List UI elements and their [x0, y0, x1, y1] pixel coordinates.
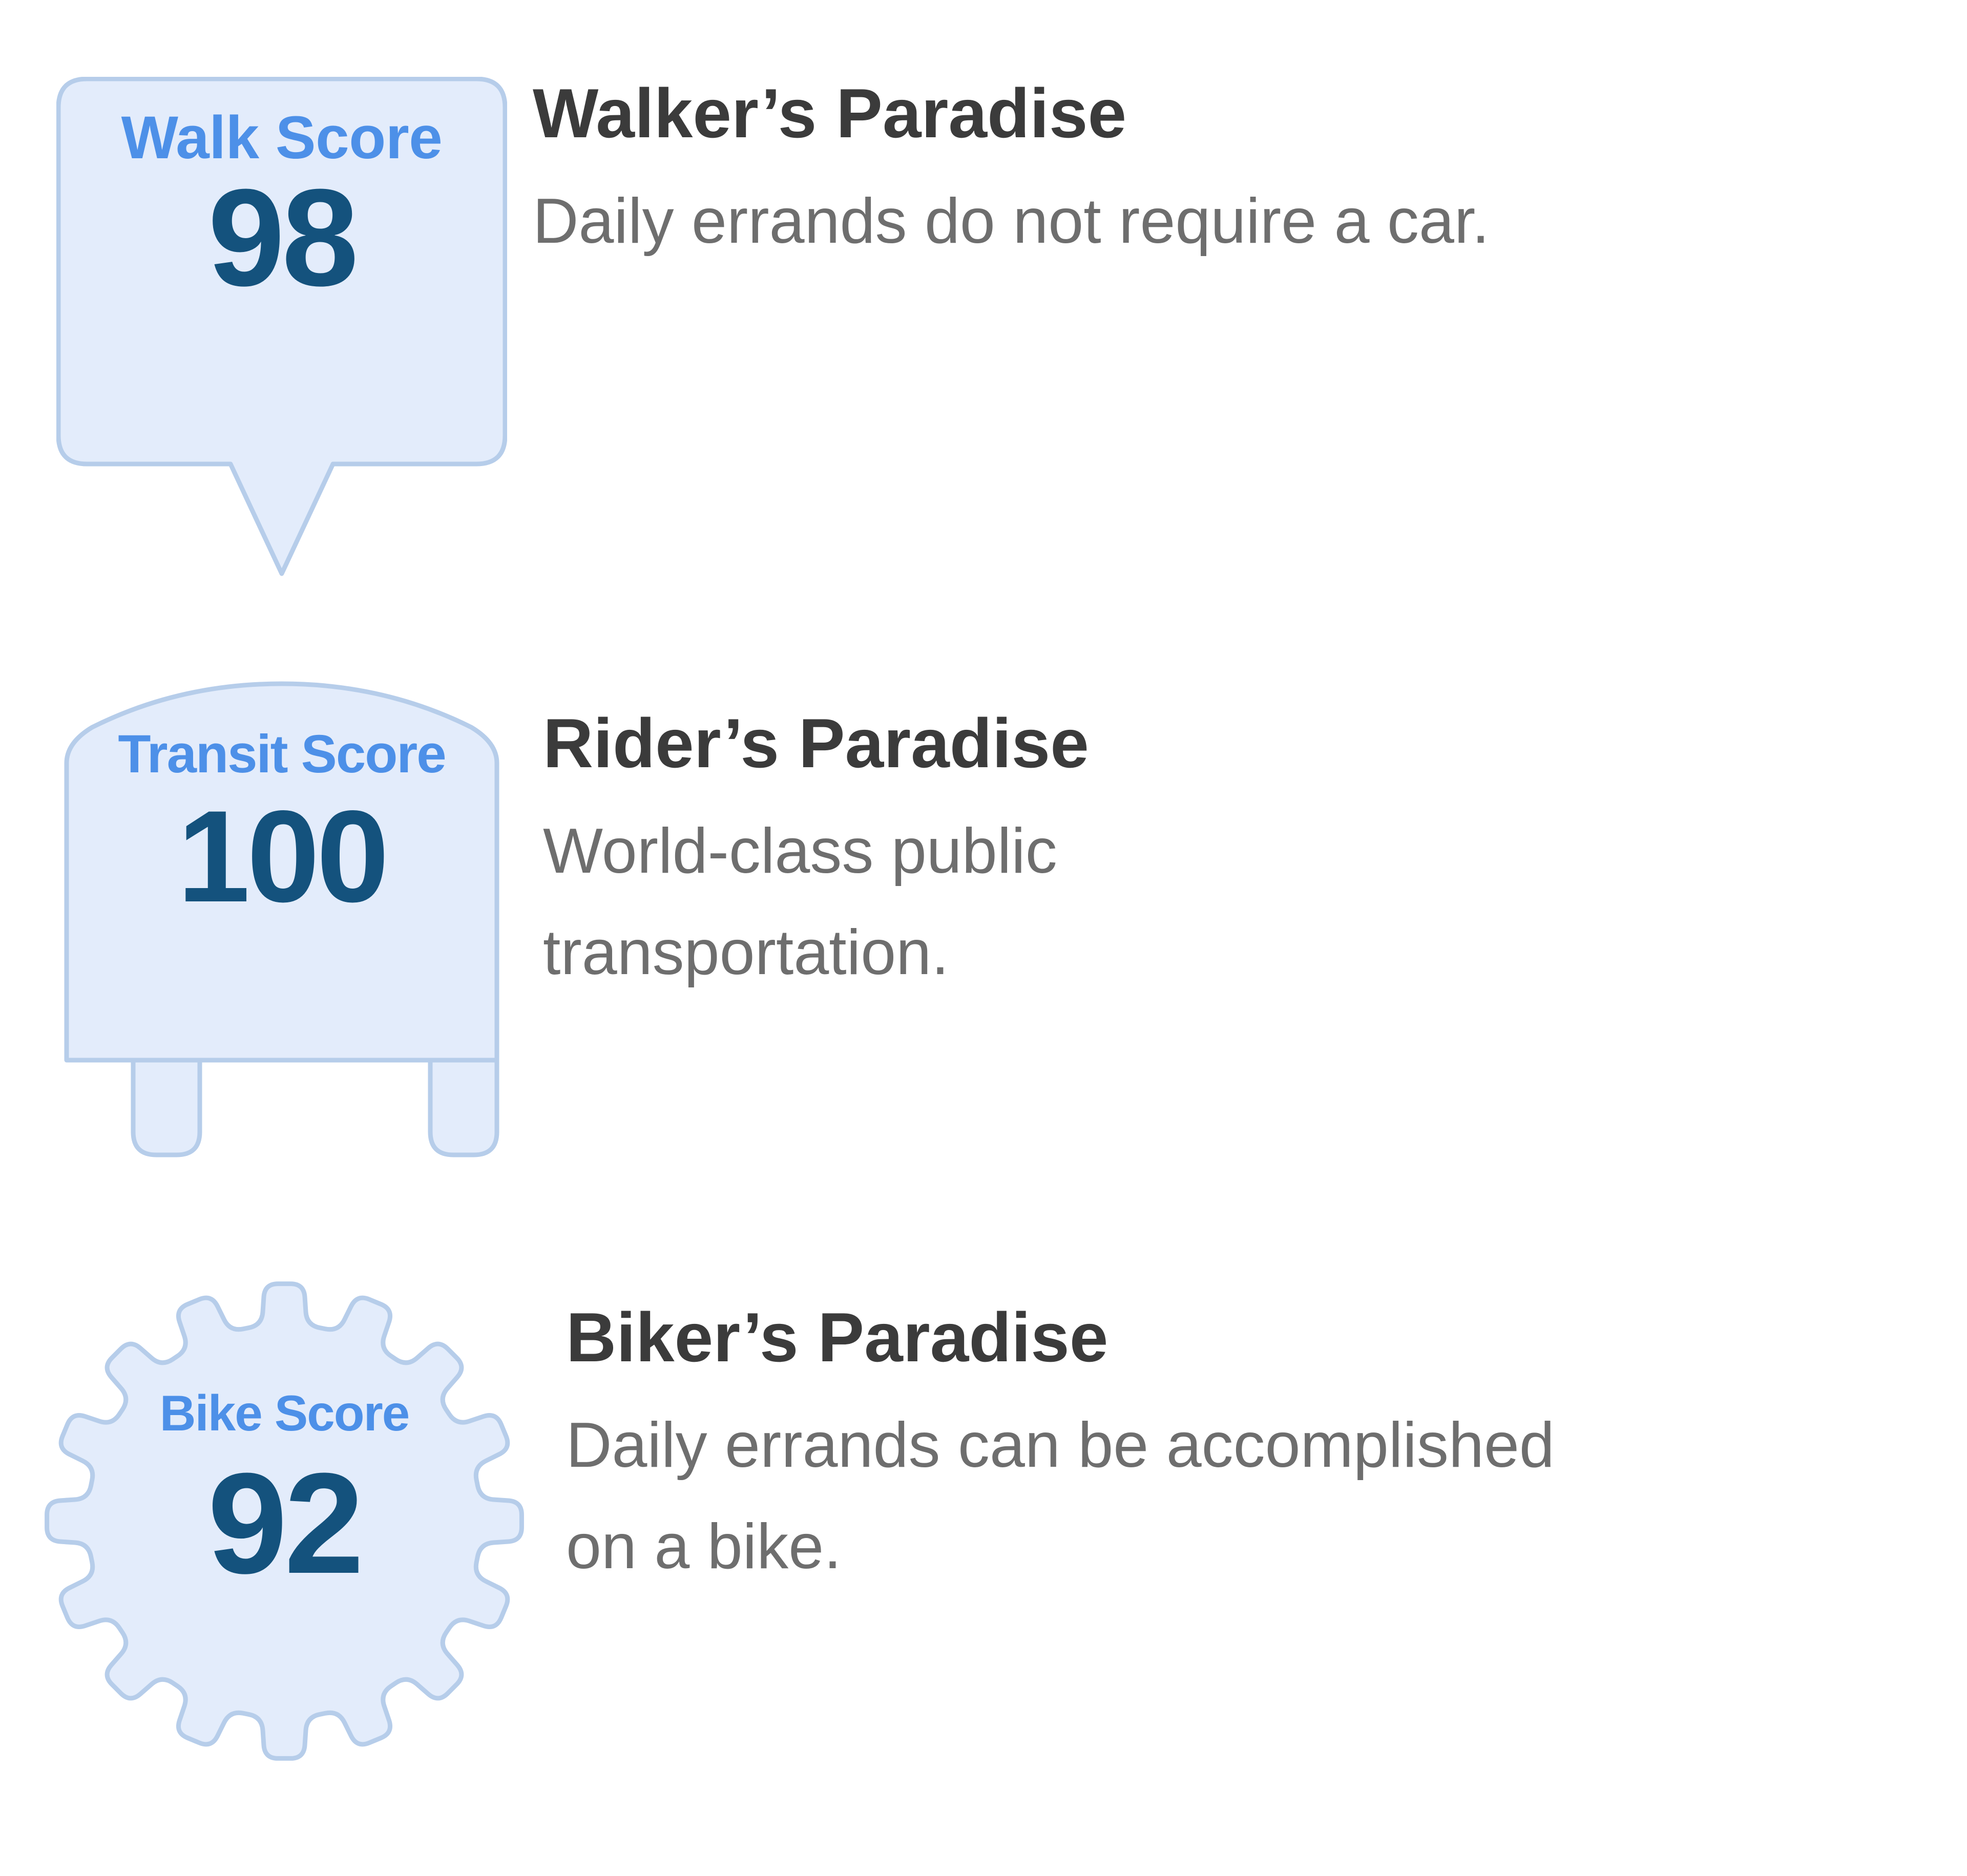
walk-score-badge-value: 98: [56, 169, 507, 307]
transit-score-text-block: Rider’s Paradise World-class public tran…: [517, 681, 1870, 1004]
bike-score-badge-label: Bike Score: [28, 1388, 540, 1438]
walk-score-text-block: Walker’s Paradise Daily errands do not r…: [507, 77, 1859, 272]
score-row-bike[interactable]: Bike Score 92 Biker’s Paradise Daily err…: [0, 1250, 1893, 1793]
bike-score-badge-value: 92: [28, 1452, 540, 1595]
score-row-walk[interactable]: Walk Score 98 Walker’s Paradise Daily er…: [0, 77, 1859, 594]
walk-transit-bike-scores-panel: Walk Score 98 Walker’s Paradise Daily er…: [0, 0, 1967, 1876]
transit-score-badge-value: 100: [46, 791, 517, 922]
walk-score-badge-label: Walk Score: [56, 108, 507, 168]
score-row-transit[interactable]: Transit Score 100 Rider’s Paradise World…: [0, 681, 1870, 1198]
bike-score-description: Daily errands can be accomplished on a b…: [566, 1395, 1642, 1598]
walk-score-description: Daily errands do not require a car.: [533, 171, 1813, 272]
bike-score-badge[interactable]: Bike Score 92: [28, 1250, 540, 1793]
walk-score-badge[interactable]: Walk Score 98: [56, 77, 507, 594]
bike-score-text-block: Biker’s Paradise Daily errands can be ac…: [540, 1250, 1893, 1598]
transit-score-title: Rider’s Paradise: [543, 707, 1870, 780]
bike-score-title: Biker’s Paradise: [566, 1301, 1893, 1374]
transit-score-badge-label: Transit Score: [46, 727, 517, 781]
transit-score-description: World-class public transportation.: [543, 800, 1414, 1004]
transit-score-badge[interactable]: Transit Score 100: [46, 681, 517, 1198]
walk-score-title: Walker’s Paradise: [533, 77, 1859, 150]
